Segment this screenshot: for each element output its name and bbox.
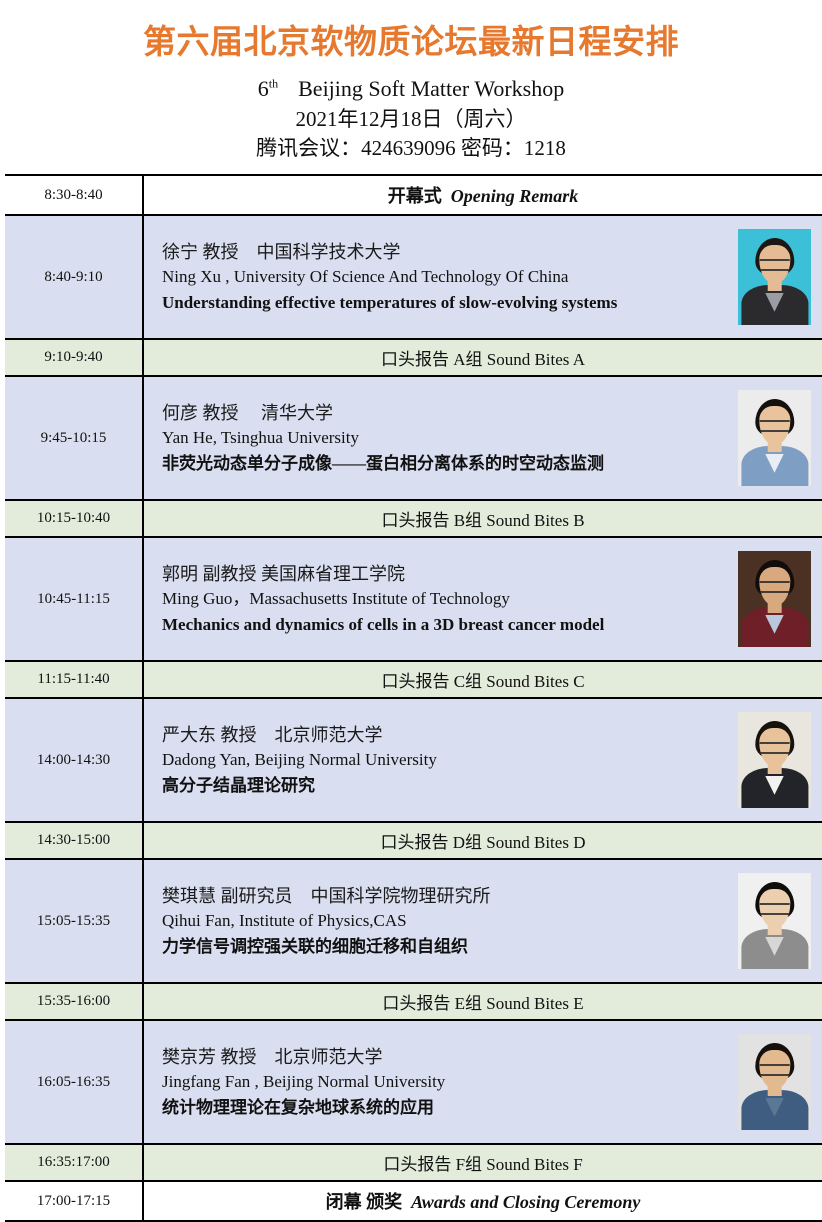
schedule-row: 9:45-10:15何彦 教授 清华大学Yan He, Tsinghua Uni… (5, 376, 822, 500)
speaker-name-cn: 徐宁 教授 中国科学技术大学 (162, 239, 730, 265)
sound-bites-label: 口头报告 A组 Sound Bites A (144, 345, 822, 370)
workshop-name: Beijing Soft Matter Workshop (298, 76, 564, 101)
talk-cell: 徐宁 教授 中国科学技术大学Ning Xu , University Of Sc… (143, 215, 822, 339)
schedule-table: 8:30-8:40开幕式 Opening Remark8:40-9:10徐宁 教… (5, 174, 822, 1222)
talk-cell: 郭明 副教授 美国麻省理工学院Ming Guo，Massachusetts In… (143, 537, 822, 661)
time-slot: 16:05-16:35 (5, 1020, 143, 1144)
ceremony-label-cn: 闭幕 颁奖 (326, 1192, 403, 1212)
sound-bites-cell: 口头报告 C组 Sound Bites C (143, 661, 822, 698)
sound-bites-cell: 口头报告 E组 Sound Bites E (143, 983, 822, 1020)
ordinal-number: 6 (258, 76, 269, 101)
time-slot: 11:15-11:40 (5, 661, 143, 698)
talk-cell: 樊琪慧 副研究员 中国科学院物理研究所Qihui Fan, Institute … (143, 859, 822, 983)
schedule-row: 17:00-17:15闭幕 颁奖 Awards and Closing Cere… (5, 1181, 822, 1221)
photo-glasses (759, 259, 790, 271)
schedule-row: 11:15-11:40口头报告 C组 Sound Bites C (5, 661, 822, 698)
time-slot: 14:30-15:00 (5, 822, 143, 859)
time-slot: 8:40-9:10 (5, 215, 143, 339)
page-title: 第六届北京软物质论坛最新日程安排 (0, 22, 822, 62)
sound-bites-cell: 口头报告 A组 Sound Bites A (143, 339, 822, 376)
photo-glasses (759, 420, 790, 432)
talk-details: 严大东 教授 北京师范大学Dadong Yan, Beijing Normal … (144, 722, 738, 798)
time-slot: 17:00-17:15 (5, 1181, 143, 1221)
meeting-info: 腾讯会议：424639096 密码：1218 (0, 136, 822, 160)
speaker-photo (738, 551, 811, 647)
photo-glasses (759, 581, 790, 593)
schedule-row: 16:35:17:00口头报告 F组 Sound Bites F (5, 1144, 822, 1181)
time-slot: 15:35-16:00 (5, 983, 143, 1020)
sound-bites-label: 口头报告 C组 Sound Bites C (144, 667, 822, 692)
time-slot: 8:30-8:40 (5, 175, 143, 215)
speaker-name-cn: 郭明 副教授 美国麻省理工学院 (162, 561, 730, 587)
schedule-row: 15:35-16:00口头报告 E组 Sound Bites E (5, 983, 822, 1020)
speaker-photo (738, 229, 811, 325)
ceremony-label-cn: 开幕式 (388, 186, 442, 206)
time-slot: 9:45-10:15 (5, 376, 143, 500)
page-header: 第六届北京软物质论坛最新日程安排 6thBeijing Soft Matter … (0, 0, 822, 160)
ceremony-label: 开幕式 Opening Remark (144, 182, 822, 208)
ceremony-cell: 闭幕 颁奖 Awards and Closing Ceremony (143, 1181, 822, 1221)
speaker-name-cn: 何彦 教授 清华大学 (162, 400, 730, 426)
talk-details: 何彦 教授 清华大学Yan He, Tsinghua University非荧光… (144, 400, 738, 476)
talk-cell: 严大东 教授 北京师范大学Dadong Yan, Beijing Normal … (143, 698, 822, 822)
subtitle-english: 6thBeijing Soft Matter Workshop (0, 76, 822, 101)
schedule-row: 8:30-8:40开幕式 Opening Remark (5, 175, 822, 215)
talk-cell: 何彦 教授 清华大学Yan He, Tsinghua University非荧光… (143, 376, 822, 500)
speaker-photo (738, 1034, 811, 1130)
ceremony-label-en: Awards and Closing Ceremony (411, 1192, 640, 1212)
sound-bites-label: 口头报告 E组 Sound Bites E (144, 989, 822, 1014)
speaker-name-cn: 樊京芳 教授 北京师范大学 (162, 1044, 730, 1070)
photo-glasses (759, 903, 790, 915)
time-slot: 15:05-15:35 (5, 859, 143, 983)
speaker-name-cn: 严大东 教授 北京师范大学 (162, 722, 730, 748)
photo-glasses (759, 742, 790, 754)
sound-bites-label: 口头报告 B组 Sound Bites B (144, 506, 822, 531)
speaker-name-en: Jingfang Fan , Beijing Normal University (162, 1070, 730, 1095)
ceremony-label-en: Opening Remark (451, 186, 579, 206)
ceremony-label: 闭幕 颁奖 Awards and Closing Ceremony (144, 1188, 822, 1214)
speaker-name-en: Ming Guo，Massachusetts Institute of Tech… (162, 587, 730, 612)
event-date: 2021年12月18日（周六） (0, 107, 822, 131)
sound-bites-label: 口头报告 D组 Sound Bites D (144, 828, 822, 853)
time-slot: 9:10-9:40 (5, 339, 143, 376)
talk-title: 力学信号调控强关联的细胞迁移和自组织 (162, 934, 730, 960)
speaker-name-cn: 樊琪慧 副研究员 中国科学院物理研究所 (162, 883, 730, 909)
photo-glasses (759, 1064, 790, 1076)
speaker-photo (738, 390, 811, 486)
sound-bites-cell: 口头报告 F组 Sound Bites F (143, 1144, 822, 1181)
schedule-row: 14:00-14:30严大东 教授 北京师范大学Dadong Yan, Beij… (5, 698, 822, 822)
talk-details: 徐宁 教授 中国科学技术大学Ning Xu , University Of Sc… (144, 239, 738, 315)
talk-title: 统计物理理论在复杂地球系统的应用 (162, 1095, 730, 1121)
schedule-row: 16:05-16:35樊京芳 教授 北京师范大学Jingfang Fan , B… (5, 1020, 822, 1144)
sound-bites-cell: 口头报告 D组 Sound Bites D (143, 822, 822, 859)
speaker-name-en: Ning Xu , University Of Science And Tech… (162, 265, 730, 290)
ceremony-cell: 开幕式 Opening Remark (143, 175, 822, 215)
talk-details: 樊京芳 教授 北京师范大学Jingfang Fan , Beijing Norm… (144, 1044, 738, 1120)
talk-title: Understanding effective temperatures of … (162, 290, 730, 316)
speaker-photo (738, 873, 811, 969)
time-slot: 10:15-10:40 (5, 500, 143, 537)
talk-title: 非荧光动态单分子成像——蛋白相分离体系的时空动态监测 (162, 451, 730, 477)
ordinal-suffix: th (269, 76, 278, 90)
time-slot: 14:00-14:30 (5, 698, 143, 822)
talk-details: 郭明 副教授 美国麻省理工学院Ming Guo，Massachusetts In… (144, 561, 738, 637)
schedule-row: 9:10-9:40口头报告 A组 Sound Bites A (5, 339, 822, 376)
sound-bites-cell: 口头报告 B组 Sound Bites B (143, 500, 822, 537)
schedule-row: 8:40-9:10徐宁 教授 中国科学技术大学Ning Xu , Univers… (5, 215, 822, 339)
speaker-name-en: Qihui Fan, Institute of Physics,CAS (162, 909, 730, 934)
schedule-row: 10:45-11:15郭明 副教授 美国麻省理工学院Ming Guo，Massa… (5, 537, 822, 661)
speaker-name-en: Yan He, Tsinghua University (162, 426, 730, 451)
schedule-row: 10:15-10:40口头报告 B组 Sound Bites B (5, 500, 822, 537)
talk-title: Mechanics and dynamics of cells in a 3D … (162, 612, 730, 638)
schedule-row: 15:05-15:35樊琪慧 副研究员 中国科学院物理研究所Qihui Fan,… (5, 859, 822, 983)
talk-cell: 樊京芳 教授 北京师范大学Jingfang Fan , Beijing Norm… (143, 1020, 822, 1144)
schedule-row: 14:30-15:00口头报告 D组 Sound Bites D (5, 822, 822, 859)
speaker-name-en: Dadong Yan, Beijing Normal University (162, 748, 730, 773)
speaker-photo (738, 712, 811, 808)
sound-bites-label: 口头报告 F组 Sound Bites F (144, 1150, 822, 1175)
time-slot: 16:35:17:00 (5, 1144, 143, 1181)
talk-title: 高分子结晶理论研究 (162, 773, 730, 799)
time-slot: 10:45-11:15 (5, 537, 143, 661)
talk-details: 樊琪慧 副研究员 中国科学院物理研究所Qihui Fan, Institute … (144, 883, 738, 959)
